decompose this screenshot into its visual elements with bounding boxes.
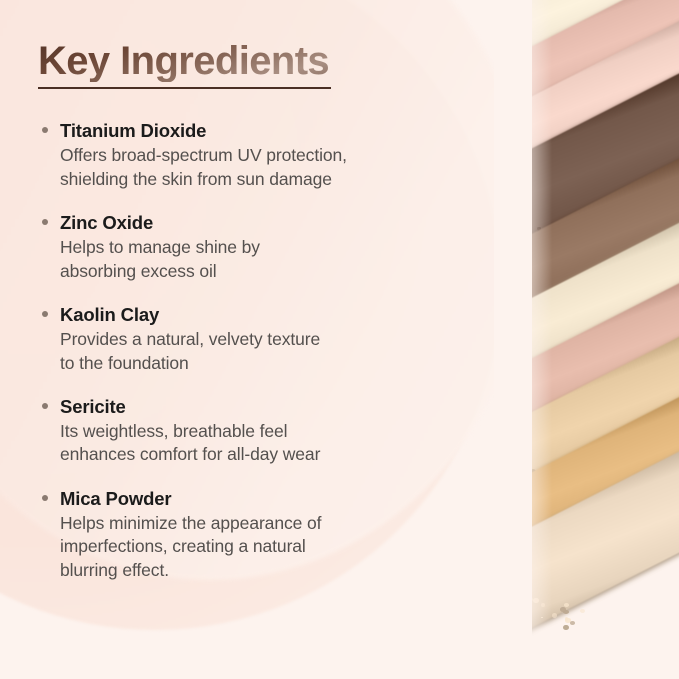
ingredient-description: Provides a natural, velvety texture to t…: [60, 328, 470, 375]
list-item: Sericite Its weightless, breathable feel…: [38, 395, 470, 467]
ingredient-name: Mica Powder: [60, 487, 470, 511]
powder-grain: [509, 528, 513, 532]
page-title-wrap: Key Ingredients: [38, 40, 329, 89]
powder-grain: [570, 621, 575, 625]
powder-grain: [494, 156, 499, 161]
ingredient-list: Titanium Dioxide Offers broad-spectrum U…: [38, 119, 470, 582]
powder-grain: [529, 223, 532, 226]
powder-grain: [501, 589, 504, 592]
powder-grain: [512, 607, 518, 611]
powder-grain: [514, 595, 518, 598]
powder-grain: [504, 615, 507, 618]
powder-grain: [580, 609, 585, 613]
powder-grain: [529, 229, 532, 232]
page-title: Key Ingredients: [38, 40, 329, 82]
ingredient-name: Kaolin Clay: [60, 303, 470, 327]
title-underline: [38, 87, 331, 89]
list-item: Titanium Dioxide Offers broad-spectrum U…: [38, 119, 470, 191]
ingredient-description: Offers broad-spectrum UV protection, shi…: [60, 144, 470, 191]
powder-grain: [508, 596, 512, 600]
list-item: Kaolin Clay Provides a natural, velvety …: [38, 303, 470, 375]
powder-grain: [560, 607, 566, 612]
powder-grain: [522, 606, 528, 614]
ingredient-name: Sericite: [60, 395, 470, 419]
powder-grain: [541, 603, 544, 607]
ingredient-description: Helps minimize the appearance of imperfe…: [60, 512, 470, 582]
content-column: Key Ingredients Titanium Dioxide Offers …: [0, 0, 470, 679]
powder-grain: [541, 617, 543, 618]
ingredient-description: Its weightless, breathable feel enhances…: [60, 420, 470, 467]
powder-grain: [502, 306, 504, 307]
powder-grain: [500, 227, 506, 233]
bullet-icon: [42, 127, 48, 133]
powder-grain: [552, 613, 557, 617]
bullet-icon: [42, 403, 48, 409]
powder-grain: [565, 617, 568, 621]
list-item: Zinc Oxide Helps to manage shine by abso…: [38, 211, 470, 283]
powder-grain: [518, 413, 521, 415]
powder-grain: [507, 219, 512, 223]
powder-grain: [533, 598, 538, 604]
bullet-icon: [42, 219, 48, 225]
powder-grain: [564, 603, 570, 607]
bullet-icon: [42, 311, 48, 317]
powder-swatch-image: [494, 0, 679, 679]
ingredient-description: Helps to manage shine by absorbing exces…: [60, 236, 470, 283]
powder-grain: [563, 625, 569, 631]
powder-swatch-bands: [494, 0, 679, 679]
powder-grain: [501, 365, 507, 369]
list-item: Mica Powder Helps minimize the appearanc…: [38, 487, 470, 582]
ingredients-infographic: Key Ingredients Titanium Dioxide Offers …: [0, 0, 679, 679]
bullet-icon: [42, 495, 48, 501]
ingredient-name: Titanium Dioxide: [60, 119, 470, 143]
ingredient-name: Zinc Oxide: [60, 211, 470, 235]
